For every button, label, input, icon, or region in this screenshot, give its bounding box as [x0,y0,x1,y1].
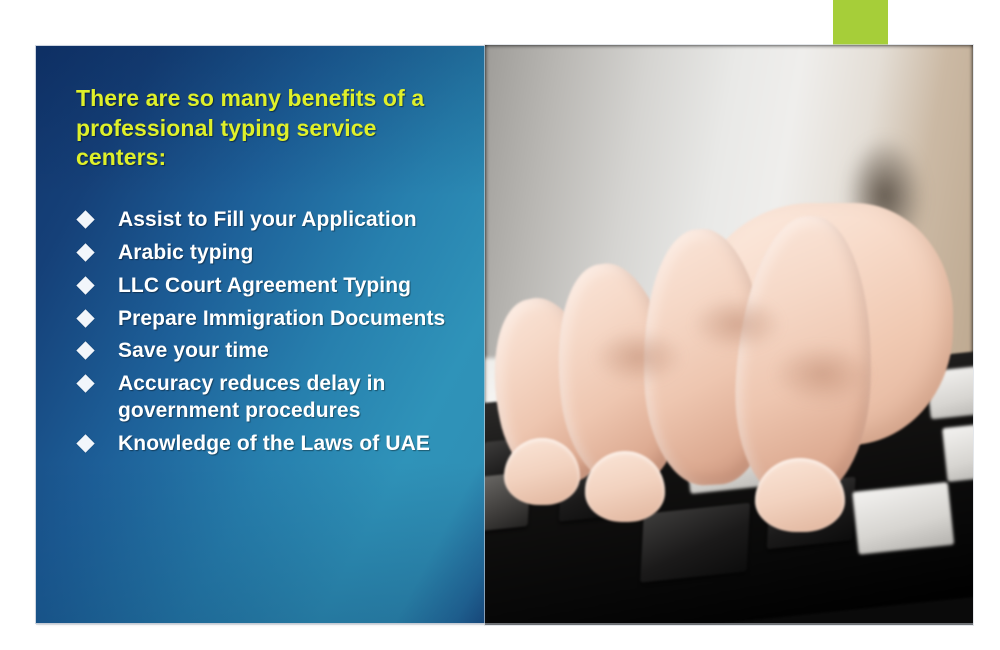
diamond-bullet-icon [76,375,94,393]
list-item: Knowledge of the Laws of UAE [76,431,467,464]
slide-canvas: There are so many benefits of a professi… [0,0,1000,650]
list-item-label: Arabic typing [118,241,253,264]
list-item-label: Assist to Fill your Application [118,208,417,231]
diamond-bullet-icon [76,434,94,452]
fingernail [755,458,845,532]
diamond-bullet-icon [76,342,94,360]
panel-inner: There are so many benefits of a professi… [36,46,485,474]
list-item: Save your time [76,338,467,371]
diamond-bullet-icon [76,243,94,261]
diamond-bullet-icon [76,210,94,228]
panel-heading: There are so many benefits of a professi… [76,84,461,173]
benefits-list: Assist to Fill your Application Arabic t… [76,207,467,464]
list-item: Accuracy reduces delay in government pro… [76,371,467,431]
knuckle-shadow [692,297,782,351]
baseline-divider [36,623,973,625]
knuckle-shadow [594,330,684,384]
hand [495,196,944,532]
typing-photo [485,45,973,625]
list-item-label: LLC Court Agreement Typing [118,274,411,297]
photo-artwork [485,45,973,625]
list-item: Arabic typing [76,240,467,273]
list-item-label: Accuracy reduces delay in government pro… [118,372,385,422]
list-item: LLC Court Agreement Typing [76,273,467,306]
list-item-label: Knowledge of the Laws of UAE [118,432,430,455]
green-accent-bar [833,0,888,47]
diamond-bullet-icon [76,276,94,294]
list-item-label: Save your time [118,339,269,362]
blue-content-panel: There are so many benefits of a professi… [36,46,485,623]
fingernail [585,451,666,522]
knuckle-shadow [773,344,872,405]
list-item: Prepare Immigration Documents [76,306,467,339]
list-item-label: Prepare Immigration Documents [118,307,445,330]
list-item: Assist to Fill your Application [76,207,467,240]
diamond-bullet-icon [76,309,94,327]
